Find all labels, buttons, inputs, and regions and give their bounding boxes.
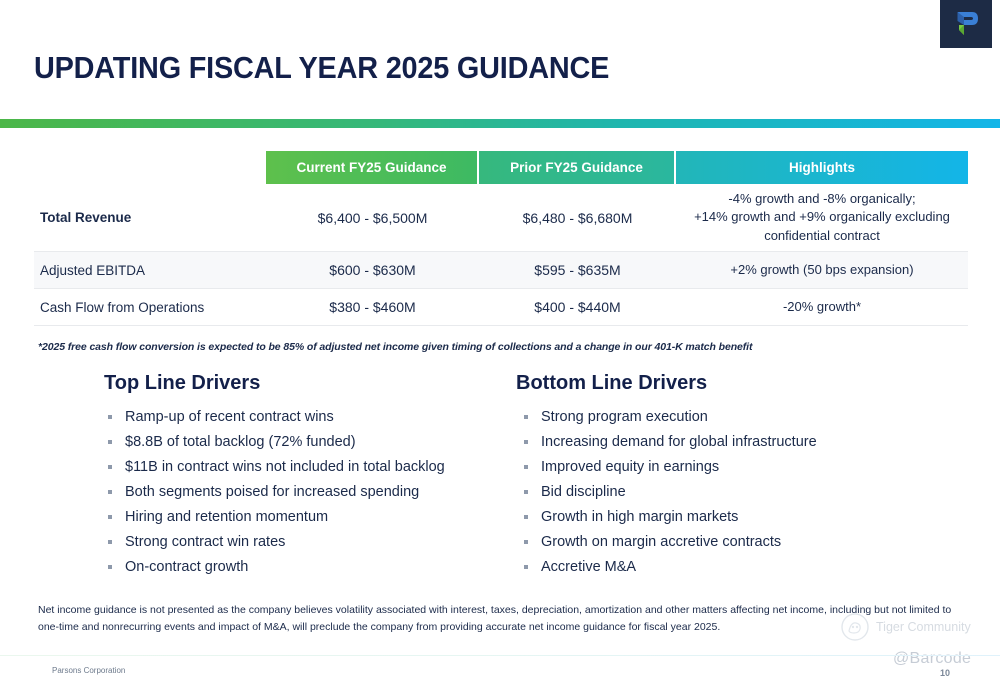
table-footnote: *2025 free cash flow conversion is expec… bbox=[38, 341, 752, 353]
square-bullet-icon bbox=[108, 440, 112, 444]
square-bullet-icon bbox=[108, 565, 112, 569]
square-bullet-icon bbox=[108, 540, 112, 544]
gradient-divider bbox=[0, 119, 1000, 128]
column-header-prior: Prior FY25 Guidance bbox=[479, 151, 676, 184]
list-item-label: Improved equity in earnings bbox=[541, 459, 719, 475]
cell-prior-cash-flow: $400 - $440M bbox=[479, 299, 676, 315]
table-header-row: Current FY25 Guidance Prior FY25 Guidanc… bbox=[266, 151, 968, 184]
cell-current-total-revenue: $6,400 - $6,500M bbox=[266, 210, 479, 226]
column-header-current: Current FY25 Guidance bbox=[266, 151, 479, 184]
highlight-line-2: +14% growth and +9% organically excludin… bbox=[676, 208, 968, 226]
slide: UPDATING FISCAL YEAR 2025 GUIDANCE Curre… bbox=[0, 0, 1000, 685]
page-title: UPDATING FISCAL YEAR 2025 GUIDANCE bbox=[34, 50, 609, 86]
square-bullet-icon bbox=[108, 515, 112, 519]
list-item-label: Growth in high margin markets bbox=[541, 509, 738, 525]
footer-divider bbox=[0, 655, 1000, 656]
cell-prior-adjusted-ebitda: $595 - $635M bbox=[479, 262, 676, 278]
list-item: Accretive M&A bbox=[516, 555, 946, 580]
barcode-watermark: @Barcode bbox=[893, 650, 971, 668]
square-bullet-icon bbox=[524, 415, 528, 419]
table-row: Adjusted EBITDA $600 - $630M $595 - $635… bbox=[34, 252, 968, 289]
cell-prior-total-revenue: $6,480 - $6,680M bbox=[479, 210, 676, 226]
list-item: On-contract growth bbox=[100, 555, 520, 580]
page-number: 10 bbox=[940, 668, 950, 678]
tiger-community-watermark: Tiger Community bbox=[840, 612, 971, 642]
top-line-drivers-heading: Top Line Drivers bbox=[104, 372, 520, 395]
list-item-label: Accretive M&A bbox=[541, 559, 636, 575]
bottom-line-drivers-column: Bottom Line Drivers Strong program execu… bbox=[516, 372, 946, 580]
list-item-label: Strong program execution bbox=[541, 409, 708, 425]
list-item: Strong contract win rates bbox=[100, 530, 520, 555]
bottom-line-drivers-list: Strong program execution Increasing dema… bbox=[516, 405, 946, 580]
list-item-label: Both segments poised for increased spend… bbox=[125, 484, 419, 500]
list-item-label: $8.8B of total backlog (72% funded) bbox=[125, 434, 356, 450]
list-item-label: Bid discipline bbox=[541, 484, 626, 500]
row-label-cash-flow: Cash Flow from Operations bbox=[34, 300, 266, 315]
row-label-adjusted-ebitda: Adjusted EBITDA bbox=[34, 263, 266, 278]
list-item: Strong program execution bbox=[516, 405, 946, 430]
highlight-line-1: -4% growth and -8% organically; bbox=[676, 190, 968, 208]
table-row: Total Revenue $6,400 - $6,500M $6,480 - … bbox=[34, 184, 968, 252]
row-label-total-revenue: Total Revenue bbox=[34, 210, 266, 225]
list-item-label: Hiring and retention momentum bbox=[125, 509, 328, 525]
cell-highlight-adjusted-ebitda: +2% growth (50 bps expansion) bbox=[676, 261, 968, 279]
list-item: Growth in high margin markets bbox=[516, 505, 946, 530]
square-bullet-icon bbox=[524, 465, 528, 469]
square-bullet-icon bbox=[524, 515, 528, 519]
highlight-line-3: confidential contract bbox=[676, 227, 968, 245]
cell-highlight-total-revenue: -4% growth and -8% organically; +14% gro… bbox=[676, 190, 968, 245]
list-item-label: Growth on margin accretive contracts bbox=[541, 534, 781, 550]
square-bullet-icon bbox=[524, 540, 528, 544]
bottom-line-drivers-heading: Bottom Line Drivers bbox=[516, 372, 946, 395]
list-item: Ramp-up of recent contract wins bbox=[100, 405, 520, 430]
list-item: $8.8B of total backlog (72% funded) bbox=[100, 430, 520, 455]
list-item-label: Increasing demand for global infrastruct… bbox=[541, 434, 817, 450]
tiger-icon bbox=[840, 612, 870, 642]
list-item-label: On-contract growth bbox=[125, 559, 248, 575]
guidance-table: Current FY25 Guidance Prior FY25 Guidanc… bbox=[34, 151, 968, 326]
square-bullet-icon bbox=[108, 490, 112, 494]
square-bullet-icon bbox=[108, 465, 112, 469]
list-item-label: Strong contract win rates bbox=[125, 534, 285, 550]
top-line-drivers-column: Top Line Drivers Ramp-up of recent contr… bbox=[100, 372, 520, 580]
cell-current-cash-flow: $380 - $460M bbox=[266, 299, 479, 315]
list-item-label: $11B in contract wins not included in to… bbox=[125, 459, 445, 475]
list-item: Growth on margin accretive contracts bbox=[516, 530, 946, 555]
footer-company-name: Parsons Corporation bbox=[52, 666, 125, 675]
parsons-logo bbox=[940, 0, 992, 48]
list-item: Bid discipline bbox=[516, 480, 946, 505]
table-row: Cash Flow from Operations $380 - $460M $… bbox=[34, 289, 968, 326]
disclaimer-text: Net income guidance is not presented as … bbox=[38, 602, 970, 636]
tiger-community-label: Tiger Community bbox=[876, 620, 971, 634]
list-item: Both segments poised for increased spend… bbox=[100, 480, 520, 505]
list-item: $11B in contract wins not included in to… bbox=[100, 455, 520, 480]
cell-highlight-cash-flow: -20% growth* bbox=[676, 298, 968, 316]
parsons-p-icon bbox=[952, 9, 980, 39]
cell-current-adjusted-ebitda: $600 - $630M bbox=[266, 262, 479, 278]
square-bullet-icon bbox=[524, 490, 528, 494]
list-item: Improved equity in earnings bbox=[516, 455, 946, 480]
list-item: Increasing demand for global infrastruct… bbox=[516, 430, 946, 455]
square-bullet-icon bbox=[524, 440, 528, 444]
column-header-highlights: Highlights bbox=[676, 151, 968, 184]
square-bullet-icon bbox=[108, 415, 112, 419]
square-bullet-icon bbox=[524, 565, 528, 569]
list-item-label: Ramp-up of recent contract wins bbox=[125, 409, 334, 425]
top-line-drivers-list: Ramp-up of recent contract wins $8.8B of… bbox=[100, 405, 520, 580]
list-item: Hiring and retention momentum bbox=[100, 505, 520, 530]
